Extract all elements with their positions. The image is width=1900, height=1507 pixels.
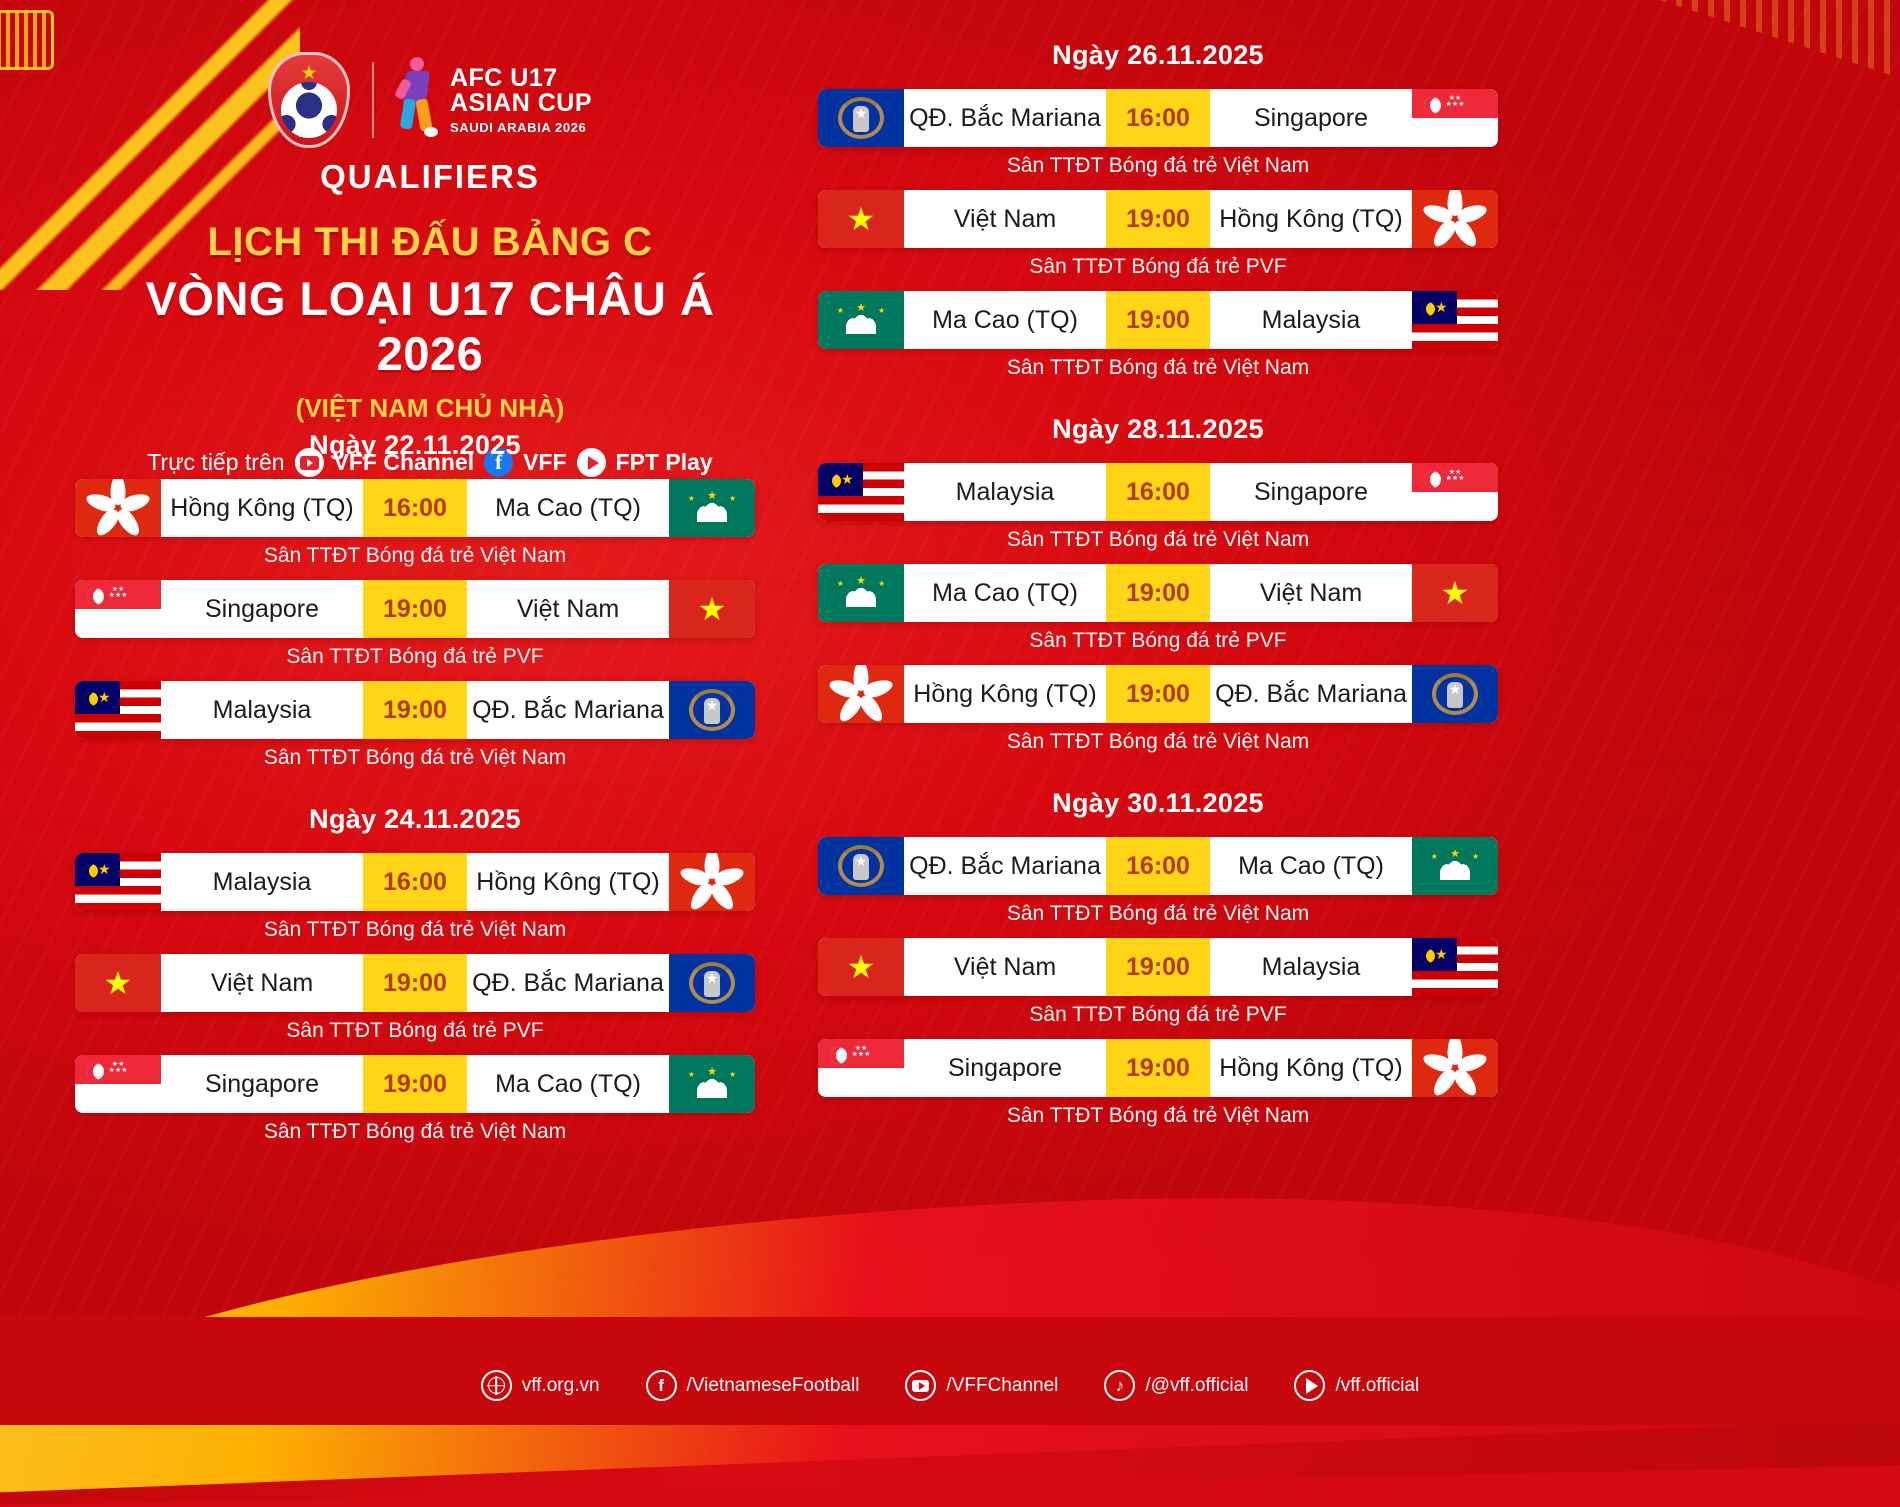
match-time: 16:00 — [1106, 463, 1210, 521]
malaysia-flag-icon: ★ — [818, 463, 904, 521]
page-title-line1: LỊCH THI ĐẤU BẢNG C — [120, 220, 740, 265]
home-team-name: Singapore — [161, 580, 363, 638]
northern-mariana-flag-icon: ★ — [1412, 665, 1498, 723]
away-team-name: Việt Nam — [1210, 564, 1412, 622]
match-row[interactable]: ★Việt Nam19:00Hồng Kông (TQ) — [818, 190, 1498, 248]
home-team-name: Việt Nam — [161, 954, 363, 1012]
schedule-day-group: Ngày 30.11.2025★QĐ. Bắc Mariana16:00Ma C… — [818, 788, 1498, 1128]
away-team-name: Hồng Kông (TQ) — [467, 853, 669, 911]
schedule-column-left: Ngày 22.11.2025Hồng Kông (TQ)16:00Ma Cao… — [75, 430, 755, 1156]
match-row[interactable]: ★★★★★Singapore19:00Việt Nam★ — [75, 580, 755, 638]
match-time: 19:00 — [1106, 291, 1210, 349]
vff-logo-label: VFF — [296, 125, 322, 140]
match-venue: Sân TTĐT Bóng đá trẻ Việt Nam — [818, 528, 1498, 552]
home-team-name: Malaysia — [161, 681, 363, 739]
schedule-day-group: Ngày 26.11.2025★QĐ. Bắc Mariana16:00Sing… — [818, 40, 1498, 380]
afc-line2: ASIAN CUP — [450, 91, 592, 117]
facebook-icon[interactable]: f — [646, 1370, 677, 1401]
match-row[interactable]: ★Malaysia16:00Singapore★★★★★ — [818, 463, 1498, 521]
match-venue: Sân TTĐT Bóng đá trẻ PVF — [818, 1003, 1498, 1027]
match-row[interactable]: ★★★★★Singapore19:00Hồng Kông (TQ) — [818, 1039, 1498, 1097]
match-row[interactable]: ★Malaysia19:00QĐ. Bắc Mariana★ — [75, 681, 755, 739]
qualifiers-label: QUALIFIERS — [120, 158, 740, 196]
match-row[interactable]: ★QĐ. Bắc Mariana16:00Ma Cao (TQ)★★★ — [818, 837, 1498, 895]
footer-link-label: vff.org.vn — [522, 1375, 600, 1397]
match-venue: Sân TTĐT Bóng đá trẻ PVF — [818, 629, 1498, 653]
singapore-flag-icon: ★★★★★ — [75, 580, 161, 638]
match-venue: Sân TTĐT Bóng đá trẻ Việt Nam — [75, 746, 755, 770]
singapore-flag-icon: ★★★★★ — [818, 1039, 904, 1097]
vietnam-flag-icon: ★ — [1412, 564, 1498, 622]
footer-link-label: /@vff.official — [1145, 1375, 1248, 1397]
away-team-name: Singapore — [1210, 89, 1412, 147]
globe-icon[interactable] — [481, 1370, 512, 1401]
match-time: 19:00 — [1106, 1039, 1210, 1097]
match-row[interactable]: ★QĐ. Bắc Mariana16:00Singapore★★★★★ — [818, 89, 1498, 147]
match-venue: Sân TTĐT Bóng đá trẻ PVF — [818, 255, 1498, 279]
home-team-name: Malaysia — [161, 853, 363, 911]
northern-mariana-flag-icon: ★ — [818, 89, 904, 147]
malaysia-flag-icon: ★ — [75, 681, 161, 739]
match-row[interactable]: ★★★Ma Cao (TQ)19:00Malaysia★ — [818, 291, 1498, 349]
singapore-flag-icon: ★★★★★ — [1412, 463, 1498, 521]
away-team-name: Hồng Kông (TQ) — [1210, 190, 1412, 248]
home-team-name: Việt Nam — [904, 938, 1106, 996]
match-date-heading: Ngày 28.11.2025 — [818, 414, 1498, 445]
page-subtitle: (VIỆT NAM CHỦ NHÀ) — [120, 393, 740, 424]
afc-player-icon — [396, 55, 440, 145]
match-time: 16:00 — [363, 479, 467, 537]
away-team-name: Việt Nam — [467, 580, 669, 638]
schedule-day-group: Ngày 24.11.2025★Malaysia16:00Hồng Kông (… — [75, 804, 755, 1144]
match-venue: Sân TTĐT Bóng đá trẻ PVF — [75, 645, 755, 669]
match-venue: Sân TTĐT Bóng đá trẻ PVF — [75, 1019, 755, 1043]
home-team-name: Singapore — [904, 1039, 1106, 1097]
macau-flag-icon: ★★★ — [818, 291, 904, 349]
vff-star-icon: ★ — [300, 64, 317, 83]
macau-flag-icon: ★★★ — [818, 564, 904, 622]
schedule-day-group: Ngày 28.11.2025★Malaysia16:00Singapore★★… — [818, 414, 1498, 754]
malaysia-flag-icon: ★ — [1412, 291, 1498, 349]
logo-row: ★ VFF AFC U17 ASIAN CUP SAUDI ARABIA 202… — [120, 45, 740, 155]
footer-link[interactable]: /VFFChannel — [905, 1370, 1058, 1401]
match-date-heading: Ngày 26.11.2025 — [818, 40, 1498, 71]
poster-header: ★ VFF AFC U17 ASIAN CUP SAUDI ARABIA 202… — [120, 45, 740, 477]
away-team-name: Hồng Kông (TQ) — [1210, 1039, 1412, 1097]
footer-link[interactable]: /vff.official — [1294, 1370, 1419, 1401]
footer-link-label: /vff.official — [1335, 1375, 1419, 1397]
hong-kong-flag-icon — [818, 665, 904, 723]
away-team-name: Ma Cao (TQ) — [467, 1055, 669, 1113]
schedule-column-right: Ngày 26.11.2025★QĐ. Bắc Mariana16:00Sing… — [818, 40, 1498, 1140]
footer-link[interactable]: vff.org.vn — [481, 1370, 600, 1401]
footer-link-label: /VFFChannel — [946, 1375, 1058, 1397]
corner-badge-icon — [0, 10, 54, 70]
match-venue: Sân TTĐT Bóng đá trẻ Việt Nam — [818, 902, 1498, 926]
hong-kong-flag-icon — [1412, 1039, 1498, 1097]
match-time: 19:00 — [1106, 938, 1210, 996]
match-venue: Sân TTĐT Bóng đá trẻ Việt Nam — [75, 544, 755, 568]
home-team-name: Việt Nam — [904, 190, 1106, 248]
logo-divider — [372, 62, 374, 138]
away-team-name: Malaysia — [1210, 291, 1412, 349]
away-team-name: Singapore — [1210, 463, 1412, 521]
footer-link-label: /VietnameseFootball — [687, 1375, 860, 1397]
match-row[interactable]: ★★★Ma Cao (TQ)19:00Việt Nam★ — [818, 564, 1498, 622]
home-team-name: Ma Cao (TQ) — [904, 291, 1106, 349]
vietnam-flag-icon: ★ — [818, 938, 904, 996]
footer-link[interactable]: f/VietnameseFootball — [646, 1370, 860, 1401]
afc-line1: AFC U17 — [450, 66, 592, 92]
match-row[interactable]: Hồng Kông (TQ)19:00QĐ. Bắc Mariana★ — [818, 665, 1498, 723]
away-team-name: Ma Cao (TQ) — [467, 479, 669, 537]
match-time: 19:00 — [363, 681, 467, 739]
match-venue: Sân TTĐT Bóng đá trẻ Việt Nam — [75, 1120, 755, 1144]
match-time: 16:00 — [363, 853, 467, 911]
vff-logo-icon: ★ VFF — [268, 52, 350, 148]
away-team-name: QĐ. Bắc Mariana — [467, 954, 669, 1012]
match-time: 16:00 — [1106, 837, 1210, 895]
play-icon[interactable] — [1294, 1370, 1325, 1401]
match-venue: Sân TTĐT Bóng đá trẻ Việt Nam — [818, 1104, 1498, 1128]
footer-links: vff.org.vnf/VietnameseFootball/VFFChanne… — [0, 1370, 1900, 1401]
home-team-name: Hồng Kông (TQ) — [904, 665, 1106, 723]
vietnam-flag-icon: ★ — [669, 580, 755, 638]
hong-kong-flag-icon — [75, 479, 161, 537]
hong-kong-flag-icon — [669, 853, 755, 911]
match-time: 19:00 — [363, 1055, 467, 1113]
match-date-heading: Ngày 24.11.2025 — [75, 804, 755, 835]
vietnam-flag-icon: ★ — [818, 190, 904, 248]
malaysia-flag-icon: ★ — [1412, 938, 1498, 996]
afc-logo-block: AFC U17 ASIAN CUP SAUDI ARABIA 2026 — [396, 55, 592, 145]
match-venue: Sân TTĐT Bóng đá trẻ Việt Nam — [818, 154, 1498, 178]
singapore-flag-icon: ★★★★★ — [1412, 89, 1498, 147]
schedule-day-group: Ngày 22.11.2025Hồng Kông (TQ)16:00Ma Cao… — [75, 430, 755, 770]
home-team-name: Ma Cao (TQ) — [904, 564, 1106, 622]
poster-root: ★ VFF AFC U17 ASIAN CUP SAUDI ARABIA 202… — [0, 0, 1900, 1425]
match-venue: Sân TTĐT Bóng đá trẻ Việt Nam — [75, 918, 755, 942]
away-team-name: Ma Cao (TQ) — [1210, 837, 1412, 895]
match-row[interactable]: ★Việt Nam19:00Malaysia★ — [818, 938, 1498, 996]
home-team-name: QĐ. Bắc Mariana — [904, 837, 1106, 895]
northern-mariana-flag-icon: ★ — [669, 954, 755, 1012]
footer-link[interactable]: ♪/@vff.official — [1104, 1370, 1248, 1401]
northern-mariana-flag-icon: ★ — [669, 681, 755, 739]
match-venue: Sân TTĐT Bóng đá trẻ Việt Nam — [818, 356, 1498, 380]
macau-flag-icon: ★★★ — [669, 479, 755, 537]
home-team-name: Malaysia — [904, 463, 1106, 521]
hong-kong-flag-icon — [1412, 190, 1498, 248]
away-team-name: QĐ. Bắc Mariana — [467, 681, 669, 739]
match-venue: Sân TTĐT Bóng đá trẻ Việt Nam — [818, 730, 1498, 754]
youtube-icon[interactable] — [905, 1370, 936, 1401]
afc-line3: SAUDI ARABIA 2026 — [450, 120, 592, 135]
match-time: 19:00 — [363, 954, 467, 1012]
match-time: 19:00 — [363, 580, 467, 638]
match-row[interactable]: Hồng Kông (TQ)16:00Ma Cao (TQ)★★★ — [75, 479, 755, 537]
match-time: 16:00 — [1106, 89, 1210, 147]
home-team-name: Singapore — [161, 1055, 363, 1113]
away-team-name: Malaysia — [1210, 938, 1412, 996]
away-team-name: QĐ. Bắc Mariana — [1210, 665, 1412, 723]
match-date-heading: Ngày 30.11.2025 — [818, 788, 1498, 819]
match-row[interactable]: ★Việt Nam19:00QĐ. Bắc Mariana★ — [75, 954, 755, 1012]
match-row[interactable]: ★Malaysia16:00Hồng Kông (TQ) — [75, 853, 755, 911]
macau-flag-icon: ★★★ — [669, 1055, 755, 1113]
singapore-flag-icon: ★★★★★ — [75, 1055, 161, 1113]
page-title-line2: VÒNG LOẠI U17 CHÂU Á 2026 — [120, 271, 740, 381]
home-team-name: Hồng Kông (TQ) — [161, 479, 363, 537]
vietnam-flag-icon: ★ — [75, 954, 161, 1012]
malaysia-flag-icon: ★ — [75, 853, 161, 911]
match-time: 19:00 — [1106, 665, 1210, 723]
match-time: 19:00 — [1106, 190, 1210, 248]
home-team-name: QĐ. Bắc Mariana — [904, 89, 1106, 147]
tiktok-icon[interactable]: ♪ — [1104, 1370, 1135, 1401]
match-time: 19:00 — [1106, 564, 1210, 622]
northern-mariana-flag-icon: ★ — [818, 837, 904, 895]
macau-flag-icon: ★★★ — [1412, 837, 1498, 895]
match-date-heading: Ngày 22.11.2025 — [75, 430, 755, 461]
match-row[interactable]: ★★★★★Singapore19:00Ma Cao (TQ)★★★ — [75, 1055, 755, 1113]
